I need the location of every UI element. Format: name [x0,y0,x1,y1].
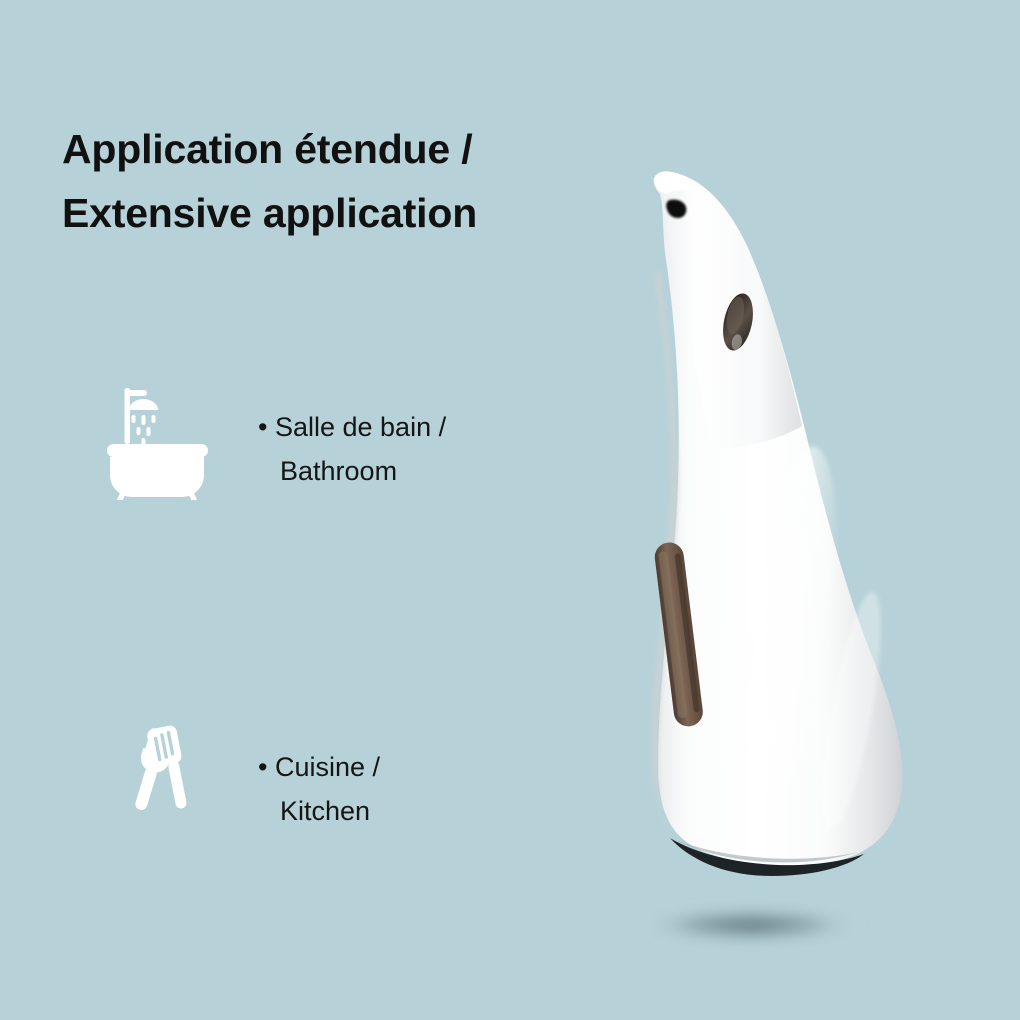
page-title: Application étendue / Extensive applicat… [62,118,622,245]
list-item-label: • Salle de bain / Bathroom [258,406,560,493]
bathtub-shower-icon [96,380,216,500]
list-item: • Chambre Bedroom [0,718,560,888]
product-shadow [639,908,863,942]
list-item: • Cuisine / Kitchen [0,548,560,718]
page-title-line-1: Application étendue / [62,118,622,182]
feature-list: • Salle de bain / Bathroom [0,378,560,888]
list-item-label-line-1: Salle de bain / [275,412,446,442]
list-item: • Salle de bain / Bathroom [0,378,560,548]
bullet-marker: • [258,412,267,442]
product-image-soap-dispenser [596,150,956,970]
infographic-poster: Application étendue / Extensive applicat… [0,0,1020,1020]
list-item-label-line-2: Bathroom [280,450,560,494]
page-title-line-2: Extensive application [62,182,622,246]
